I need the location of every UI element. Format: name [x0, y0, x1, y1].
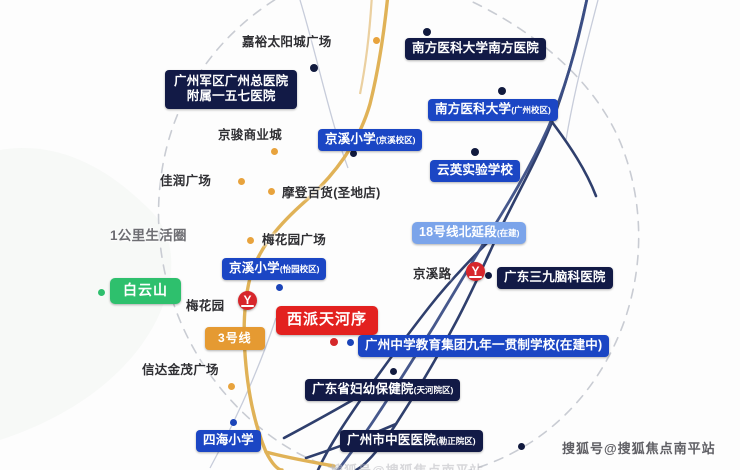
- poi-chip-guangzhou-middle-school-group[interactable]: 广州中学教育集团九年一贯制学校(在建中): [358, 335, 609, 357]
- poi-dot-guangdong-maternal-child-hospital[interactable]: [390, 368, 397, 375]
- poi-chip-yunying-experimental-school[interactable]: 云英实验学校: [430, 160, 520, 182]
- poi-chip-sub: (广州校区): [511, 105, 551, 115]
- poi-dot-nanfang-hospital[interactable]: [423, 28, 431, 36]
- poi-dot-jiarun-plaza[interactable]: [238, 178, 245, 185]
- poi-chip-sub: (怡园校区): [280, 264, 320, 274]
- watermark-sohu-ghost: 搜狐号@搜狐焦点南平站: [330, 460, 484, 470]
- poi-chip-main: 京溪小学: [325, 132, 376, 146]
- poi-chip-nanfang-hospital[interactable]: 南方医科大学南方医院: [405, 38, 546, 60]
- poi-dot-sihai-primary-school[interactable]: [230, 419, 237, 426]
- poi-chip-guangzhou-tcm-hospital[interactable]: 广州市中医医院(勒正院区): [340, 430, 483, 452]
- poi-dot-guangzhou-junqu-hospital[interactable]: [310, 64, 318, 72]
- poi-label-jiayu-taiyangcheng: 嘉裕太阳城广场: [242, 31, 332, 50]
- poi-chip-sub: (天河院区): [414, 385, 454, 395]
- poi-chip-main: 南方医科大学: [435, 102, 511, 116]
- metro-station-marker-jingxilu[interactable]: Y: [466, 262, 485, 281]
- poi-label-meihuayuan-plaza: 梅花园广场: [262, 229, 326, 248]
- poi-label-jingjun-business-city: 京骏商业城: [218, 124, 282, 143]
- poi-dot-guangzhou-middle-school-group[interactable]: [347, 339, 354, 346]
- metro-logo-glyph: Y: [238, 291, 257, 310]
- poi-label-jiarun-plaza: 佳润广场: [160, 170, 211, 189]
- poi-chip-guangdong-maternal-child-hospital[interactable]: 广东省妇幼保健院(天河院区): [305, 379, 460, 401]
- metro-line-18-badge-text: 18号线北延段: [419, 225, 497, 239]
- poi-chip-sub: (勒正院区): [436, 436, 476, 446]
- poi-dot-project-xipai[interactable]: [330, 338, 338, 346]
- poi-dot-jiayu-taiyangcheng[interactable]: [373, 37, 380, 44]
- poi-dot-modeng-department-store[interactable]: [268, 188, 275, 195]
- poi-dot-jingxi-primary-yiyuan[interactable]: [276, 284, 283, 291]
- metro-logo-glyph: Y: [466, 262, 485, 281]
- poi-dot-nanfang-medical-university[interactable]: [498, 87, 506, 95]
- metro-line-18-badge-sub: (在建): [497, 228, 520, 238]
- project-chip-xipai-tianheXu[interactable]: 西派天河序: [276, 306, 378, 335]
- watermark-sohu: 搜狐号@搜狐焦点南平站: [562, 438, 716, 457]
- metro-station-label-meihuayuan[interactable]: 梅花园: [186, 295, 224, 314]
- poi-chip-nanfang-medical-university[interactable]: 南方医科大学(广州校区): [428, 99, 558, 121]
- poi-chip-guangdong-39-brain-hospital[interactable]: 广东三九脑科医院: [497, 267, 613, 289]
- metro-station-label-jingxilu[interactable]: 京溪路: [413, 263, 451, 282]
- poi-dot-guangzhou-tcm-hospital[interactable]: [518, 443, 525, 450]
- poi-chip-sihai-primary-school[interactable]: 四海小学: [196, 430, 261, 452]
- poi-dot-jingxi-primary-jingxi[interactable]: [350, 150, 357, 157]
- one-km-life-circle-label: 1公里生活圈: [110, 224, 187, 244]
- metro-station-marker-meihuayuan[interactable]: Y: [238, 291, 257, 310]
- poi-chip-baiyun-mountain[interactable]: 白云山: [110, 278, 181, 304]
- poi-dot-jingjun-business-city[interactable]: [271, 148, 278, 155]
- poi-chip-line2: 附属一五七医院: [174, 89, 288, 104]
- metro-line-18-badge[interactable]: 18号线北延段(在建): [412, 222, 526, 244]
- poi-dot-baiyun-mountain[interactable]: [98, 289, 105, 296]
- poi-dot-xinda-jinmao-plaza[interactable]: [228, 383, 235, 390]
- poi-chip-guangzhou-junqu-hospital[interactable]: 广州军区广州总医院 附属一五七医院: [165, 70, 297, 109]
- poi-chip-main: 广州市中医医院: [347, 433, 436, 447]
- poi-dot-meihuayuan-plaza[interactable]: [247, 237, 254, 244]
- map-canvas[interactable]: 嘉裕太阳城广场 京骏商业城 佳润广场 摩登百货(圣地店) 梅花园广场 信达金茂广…: [0, 0, 740, 470]
- poi-chip-jingxi-primary-yiyuan[interactable]: 京溪小学(怡园校区): [222, 258, 326, 280]
- poi-label-modeng-department-store: 摩登百货(圣地店): [282, 182, 381, 201]
- metro-line-3-badge[interactable]: 3号线: [205, 327, 265, 350]
- poi-chip-main: 广东省妇幼保健院: [312, 382, 414, 396]
- poi-chip-jingxi-primary-jingxi[interactable]: 京溪小学(京溪校区): [318, 129, 422, 151]
- poi-chip-line1: 广州军区广州总医院: [174, 74, 288, 89]
- poi-chip-main: 京溪小学: [229, 261, 280, 275]
- poi-chip-sub: (京溪校区): [376, 135, 416, 145]
- poi-label-xinda-jinmao-plaza: 信达金茂广场: [142, 359, 219, 378]
- poi-dot-guangdong-39-brain-hospital[interactable]: [485, 272, 492, 279]
- poi-dot-yunying-experimental-school[interactable]: [471, 148, 479, 156]
